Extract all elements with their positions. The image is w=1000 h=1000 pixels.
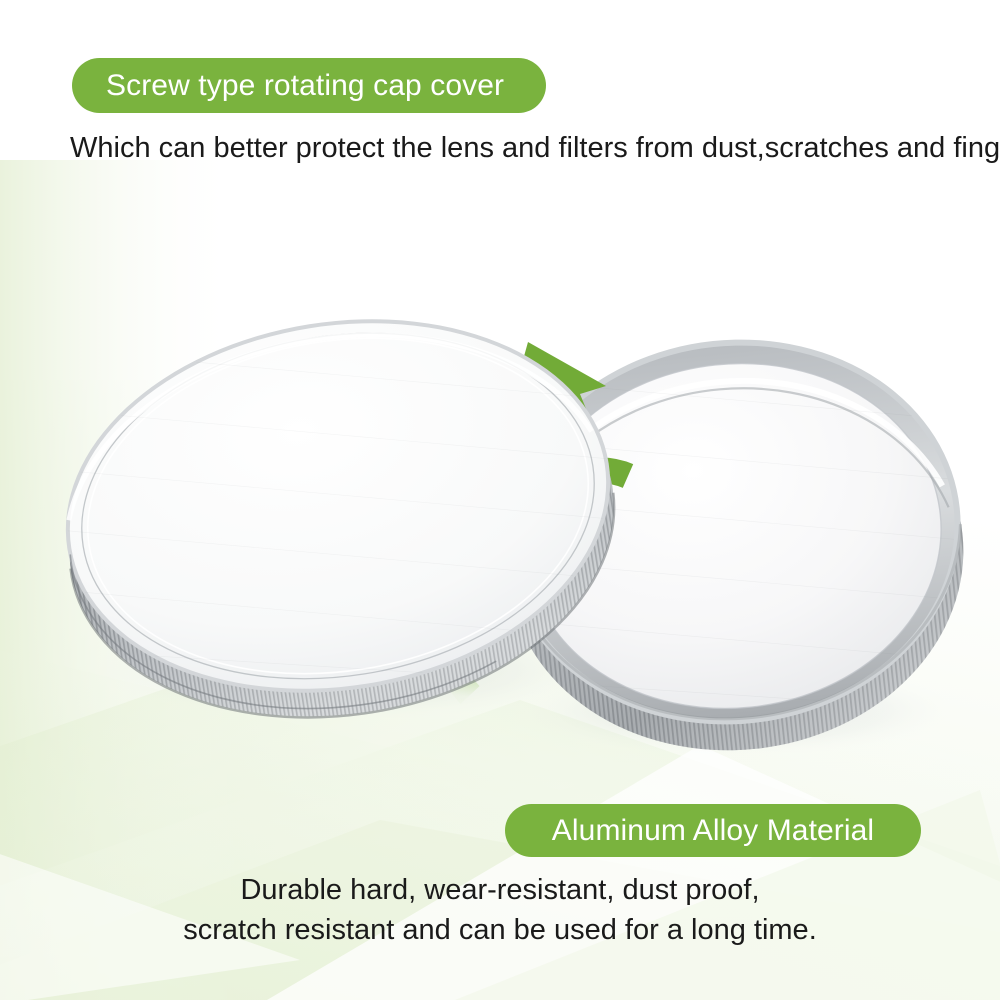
description-line: Which can better protect the lens <box>70 132 494 164</box>
feature-badge-screw-type-cap: Screw type rotating cap cover <box>72 58 546 113</box>
description-line: scratch resistant and can be used for a … <box>0 910 1000 950</box>
feature-badge-aluminum-alloy: Aluminum Alloy Material <box>505 804 921 857</box>
description-line: and filters from dust,scratches and fing… <box>502 132 1000 164</box>
feature-description-screw-type-cap: Which can better protect the lens and fi… <box>70 128 1000 168</box>
feature-description-aluminum-alloy: Durable hard, wear-resistant, dust proof… <box>0 870 1000 950</box>
product-photo <box>0 240 1000 780</box>
product-feature-image: Screw type rotating cap cover Which can … <box>0 0 1000 1000</box>
description-line: Durable hard, wear-resistant, dust proof… <box>0 870 1000 910</box>
